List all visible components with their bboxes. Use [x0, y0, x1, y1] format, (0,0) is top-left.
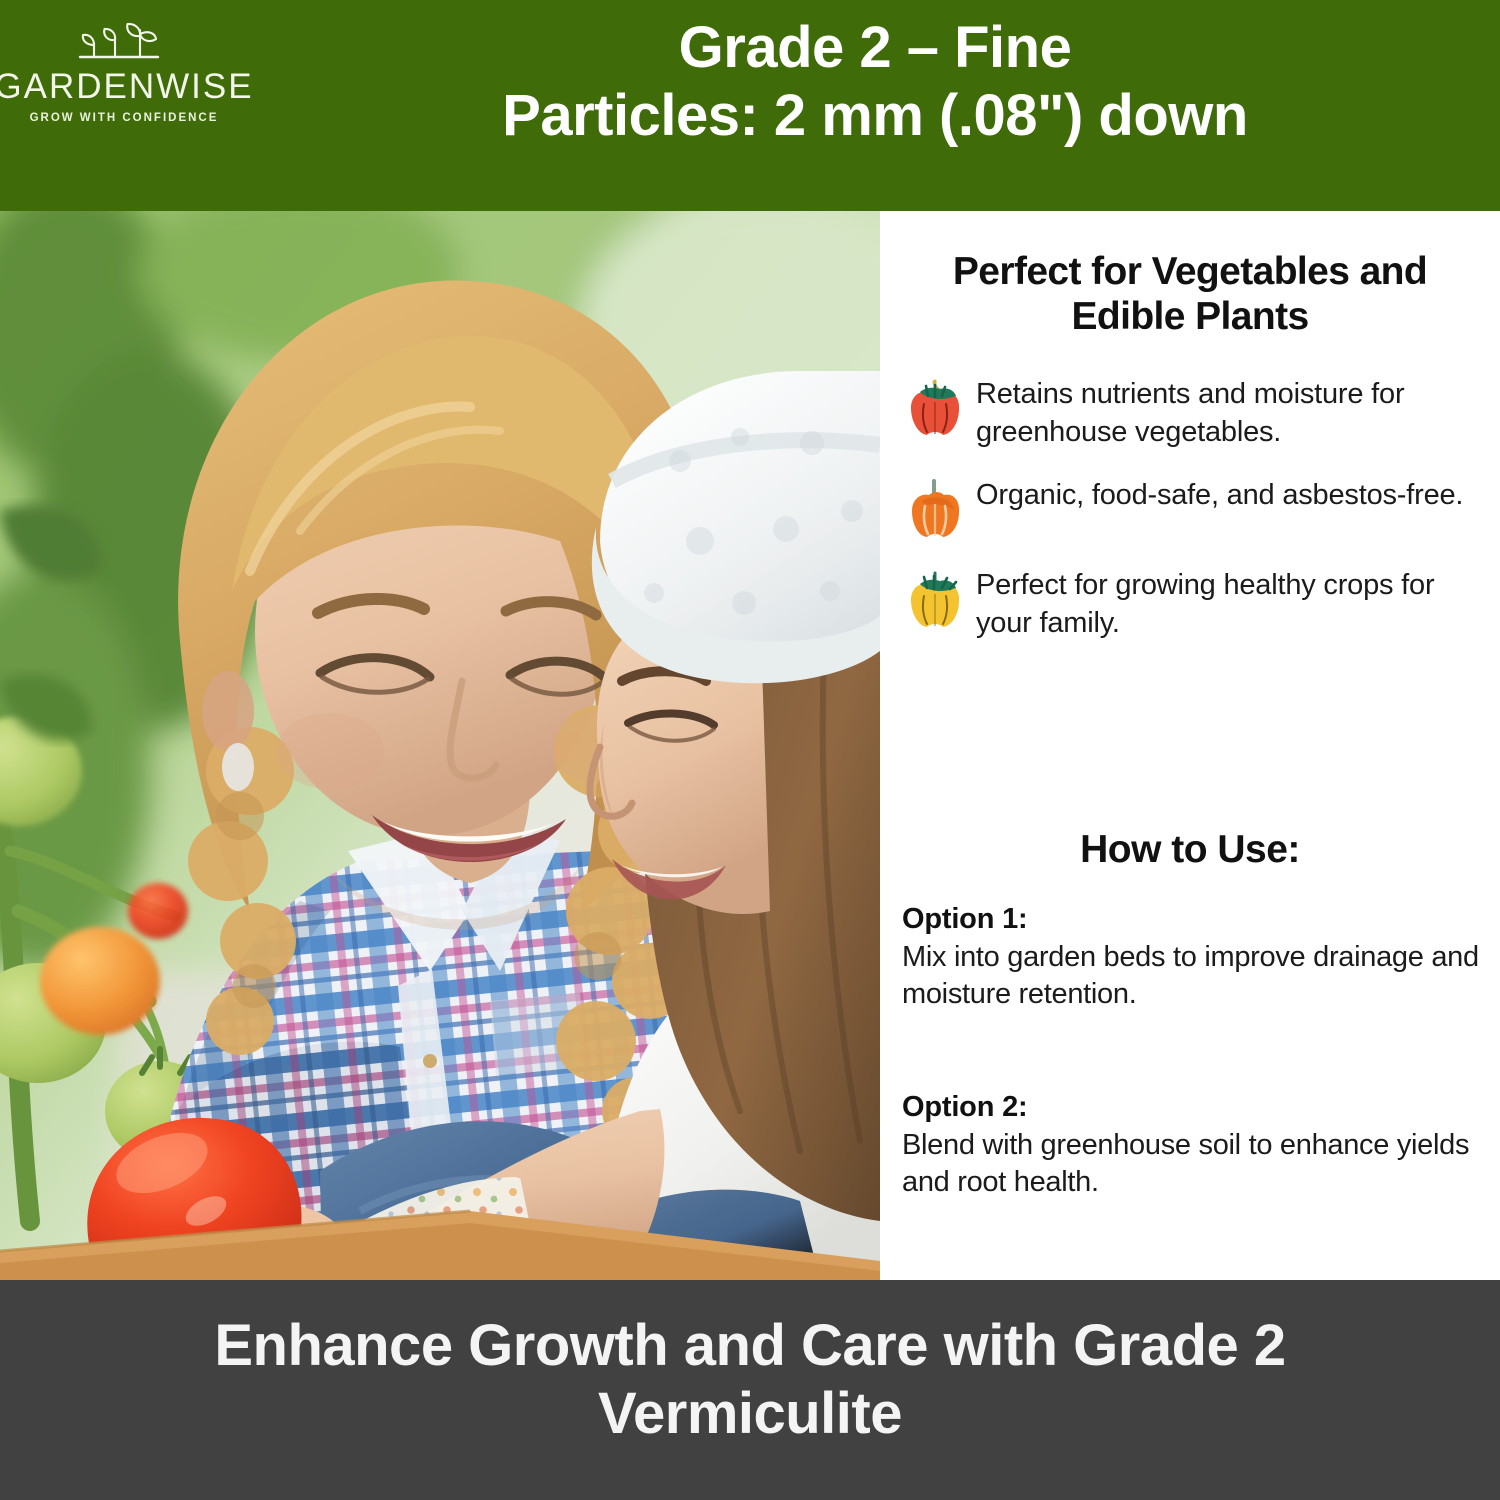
- header-title-line1: Grade 2 – Fine: [250, 14, 1500, 82]
- orange-bell-pepper-icon: [906, 479, 964, 541]
- yellow-bell-pepper-icon: [906, 569, 964, 631]
- list-item: Perfect for growing healthy crops for yo…: [906, 567, 1486, 642]
- product-infographic: GARDENWISE GROW WITH CONFIDENCE Grade 2 …: [0, 0, 1500, 1500]
- option-1-text: Mix into garden beds to improve drainage…: [902, 939, 1494, 1012]
- sprout-leaves-icon: [68, 16, 180, 66]
- footer-title: Enhance Growth and Care with Grade 2 Ver…: [60, 1312, 1440, 1448]
- option-1-label: Option 1:: [902, 901, 1494, 937]
- how-to-use-heading: How to Use:: [896, 829, 1484, 872]
- list-item-label: Organic, food-safe, and asbestos-free.: [976, 477, 1486, 515]
- list-item-label: Perfect for growing healthy crops for yo…: [976, 567, 1486, 642]
- red-bell-pepper-icon: [906, 378, 964, 440]
- option-2: Option 2: Blend with greenhouse soil to …: [902, 1089, 1494, 1200]
- list-item: Retains nutrients and moisture for green…: [906, 376, 1486, 451]
- brand-logo: GARDENWISE GROW WITH CONFIDENCE: [8, 16, 240, 126]
- option-2-label: Option 2:: [902, 1089, 1494, 1125]
- brand-name: GARDENWISE: [0, 69, 254, 104]
- header-title-line2: Particles: 2 mm (.08") down: [250, 82, 1500, 150]
- lifestyle-photo: [0, 211, 880, 1280]
- footer-title-line1: Enhance Growth and Care with Grade 2: [60, 1312, 1440, 1380]
- option-1: Option 1: Mix into garden beds to improv…: [902, 901, 1494, 1012]
- brand-tagline: GROW WITH CONFIDENCE: [30, 113, 219, 125]
- footer-banner: Enhance Growth and Care with Grade 2 Ver…: [0, 1280, 1500, 1500]
- features-panel: Perfect for Vegetables and Edible Plants: [880, 211, 1500, 1280]
- list-item-label: Retains nutrients and moisture for green…: [976, 376, 1486, 451]
- list-item: Organic, food-safe, and asbestos-free.: [906, 477, 1486, 541]
- header-banner: GARDENWISE GROW WITH CONFIDENCE Grade 2 …: [0, 0, 1500, 211]
- benefits-list: Retains nutrients and moisture for green…: [906, 376, 1486, 669]
- footer-title-line2: Vermiculite: [60, 1380, 1440, 1448]
- panel-heading: Perfect for Vegetables and Edible Plants: [896, 249, 1484, 339]
- option-2-text: Blend with greenhouse soil to enhance yi…: [902, 1127, 1494, 1200]
- header-title: Grade 2 – Fine Particles: 2 mm (.08") do…: [250, 14, 1500, 150]
